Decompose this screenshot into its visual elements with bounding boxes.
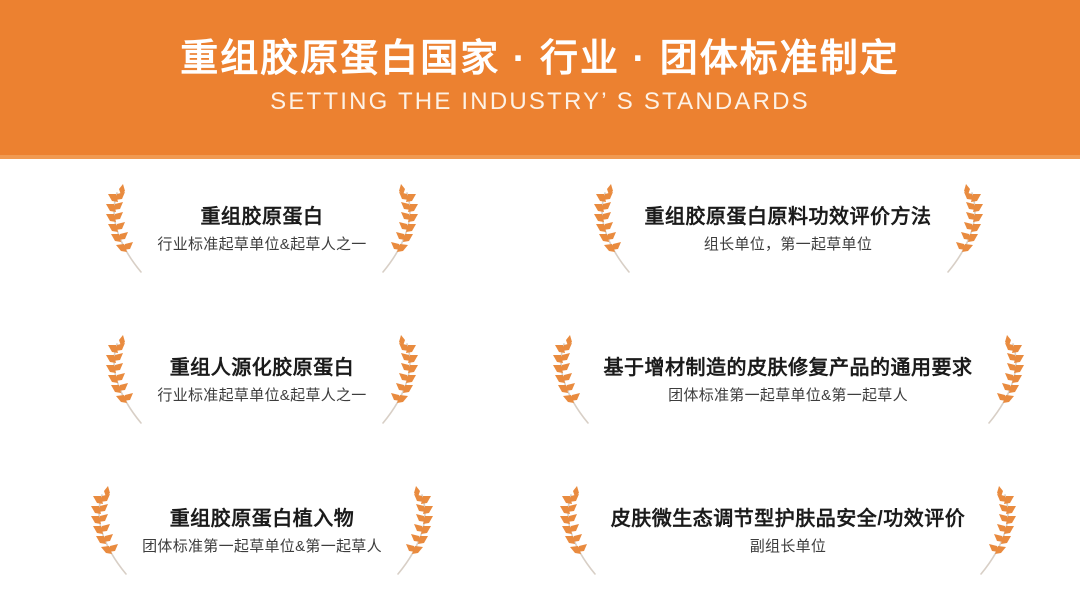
standard-item-subtitle: 行业标准起草单位&起草人之一: [157, 234, 366, 256]
standard-item-title: 重组人源化胶原蛋白: [157, 355, 366, 382]
laurel-branch-icon: [979, 335, 1025, 427]
standard-item-title: 重组胶原蛋白: [157, 204, 366, 231]
laurel-branch-icon: [373, 184, 419, 276]
laurel-branch-icon: [388, 486, 434, 578]
laurel-branch-icon: [559, 486, 605, 578]
standard-item-text: 皮肤微生态调节型护肤品安全/功效评价 副组长单位: [605, 506, 972, 558]
standard-item-subtitle: 行业标准起草单位&起草人之一: [157, 385, 366, 407]
standard-item-text: 重组胶原蛋白植入物 团体标准第一起草单位&第一起草人: [136, 506, 388, 558]
standard-item-title: 重组胶原蛋白原料功效评价方法: [645, 204, 932, 231]
laurel-branch-icon: [971, 486, 1017, 578]
standard-item-subtitle: 组长单位，第一起草单位: [645, 234, 932, 256]
standard-item-text: 基于增材制造的皮肤修复产品的通用要求 团体标准第一起草单位&第一起草人: [598, 355, 979, 407]
standard-item-subtitle: 副组长单位: [611, 536, 966, 558]
standard-item-text: 重组人源化胶原蛋白 行业标准起草单位&起草人之一: [151, 355, 372, 407]
header-banner: 重组胶原蛋白国家 · 行业 · 团体标准制定 SETTING THE INDUS…: [0, 0, 1080, 155]
standard-item-subtitle: 团体标准第一起草单位&第一起草人: [142, 536, 382, 558]
laurel-branch-icon: [373, 335, 419, 427]
standard-item-text: 重组胶原蛋白原料功效评价方法 组长单位，第一起草单位: [639, 204, 938, 256]
laurel-branch-icon: [938, 184, 984, 276]
standard-item-title: 重组胶原蛋白植入物: [142, 506, 382, 533]
laurel-branch-icon: [593, 184, 639, 276]
laurel-branch-icon: [90, 486, 136, 578]
page-subtitle: SETTING THE INDUSTRY’ S STANDARDS: [270, 88, 810, 117]
laurel-branch-icon: [552, 335, 598, 427]
standard-item-subtitle: 团体标准第一起草单位&第一起草人: [604, 385, 973, 407]
standard-item: 皮肤微生态调节型护肤品安全/功效评价 副组长单位: [510, 456, 1080, 607]
laurel-branch-icon: [105, 184, 151, 276]
standard-item: 重组胶原蛋白 行业标准起草单位&起草人之一: [0, 155, 510, 306]
standard-item-text: 重组胶原蛋白 行业标准起草单位&起草人之一: [151, 204, 372, 256]
laurel-branch-icon: [105, 335, 151, 427]
standard-item: 基于增材制造的皮肤修复产品的通用要求 团体标准第一起草单位&第一起草人: [510, 306, 1080, 457]
standard-item-title: 皮肤微生态调节型护肤品安全/功效评价: [611, 506, 966, 533]
page-title: 重组胶原蛋白国家 · 行业 · 团体标准制定: [180, 38, 900, 82]
standard-item: 重组胶原蛋白植入物 团体标准第一起草单位&第一起草人: [0, 456, 510, 607]
standards-grid: 重组胶原蛋白 行业标准起草单位&起草人之一: [0, 155, 1080, 607]
standard-item: 重组人源化胶原蛋白 行业标准起草单位&起草人之一: [0, 306, 510, 457]
standard-item-title: 基于增材制造的皮肤修复产品的通用要求: [604, 355, 973, 382]
standard-item: 重组胶原蛋白原料功效评价方法 组长单位，第一起草单位: [510, 155, 1080, 306]
